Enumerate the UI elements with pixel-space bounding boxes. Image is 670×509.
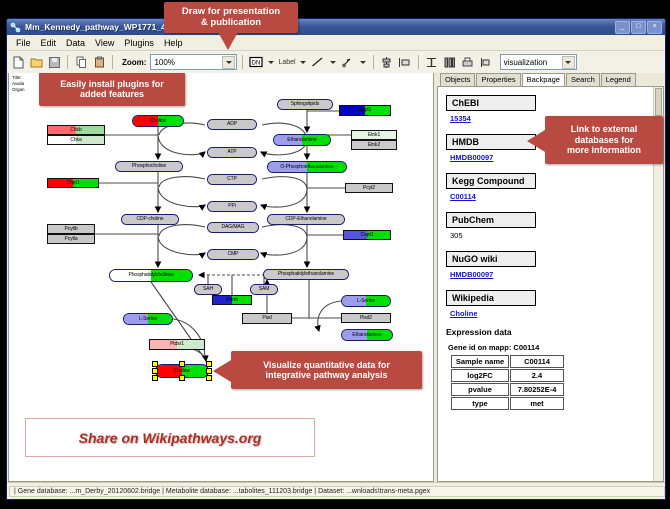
metabolite-node-ethanolamine-2[interactable]: Ethanolamine [341,329,393,341]
copy-icon[interactable] [73,54,89,70]
status-bar: | Gene database: ...m_Derby_20120602.bri… [7,482,665,499]
callout-links: Link to external databases for more info… [545,116,663,164]
table-row: pvalue7.80252E-4 [451,383,564,396]
svg-text:DN: DN [252,60,261,66]
table-row: Sample nameC00114 [451,355,564,368]
metabolite-node-adp[interactable]: ADP [207,119,257,130]
table-cell-key: type [451,397,509,410]
menu-item-view[interactable]: View [90,37,119,49]
pathway-canvas[interactable]: Title: Availa Organ [9,73,433,481]
table-row: log2FC2.4 [451,369,564,382]
metabolite-node-cdp-choline[interactable]: CDP-choline [121,214,179,225]
metabolite-node-phosphocholine[interactable]: Phosphocholine [115,161,183,172]
callout-links-arrow [527,130,545,152]
metabolite-node-choline-top[interactable]: Choline [132,115,184,127]
callout-visualize: Visualize quantitative data for integrat… [231,351,422,389]
group-tool-icon[interactable] [442,54,458,70]
node-label: CDP-choline [137,217,164,222]
callout-share: Share on Wikipathways.org [25,418,315,457]
close-button[interactable]: × [647,21,662,34]
metabolite-node-lserine-left[interactable]: L-Serine [123,313,173,325]
gene-node-chkb[interactable]: Chkb [47,125,105,135]
scrollbar-thumb[interactable] [655,88,662,116]
gene-node-etnk1[interactable]: Etnk1 [351,130,397,140]
screenshot-root: Mm_Kennedy_pathway_WP1771_45176.gpml _ □… [0,0,670,509]
menu-item-file[interactable]: File [11,37,36,49]
selection-handle[interactable] [179,375,185,381]
gene-node-chpt1[interactable]: Chpt1 [47,178,99,188]
metabolite-node-cdp-ethanol[interactable]: CDP-Ethanolamine [267,214,345,225]
node-label: Pcytlb [64,227,77,232]
metabolite-node-ethanolamine-1[interactable]: Ethanolamine [273,134,331,146]
backpage-header: PubChem [446,212,536,228]
gene-node-pcytla[interactable]: Pcytla [47,234,95,244]
gene-node-pcytlb[interactable]: Pcytlb [47,224,95,234]
table-row: typemet [451,397,564,410]
node-label: Ptdsr1 [170,342,184,347]
node-label: Ethanolamine [287,138,316,143]
interaction-tool-icon[interactable] [340,54,356,70]
callout-plugins-line2: added features [80,89,144,99]
callout-links-line2: databases for [575,135,634,145]
node-label: ADP [227,122,237,127]
expression-data-title: Expression data [446,327,663,337]
node-label: Phosphocholine [132,164,166,169]
callout-share-text: Share on Wikipathways.org [79,430,262,446]
node-label: ATP [227,150,236,155]
pathvisio-window: Mm_Kennedy_pathway_WP1771_45176.gpml _ □… [6,18,666,500]
backpage-value: 305 [450,231,663,240]
selection-handle[interactable] [206,361,212,367]
backpage-link[interactable]: Choline [450,309,663,318]
callout-draw: Draw for presentation & publication [164,2,298,33]
metabolite-node-ctp[interactable]: CTP [207,174,257,185]
metabolite-node-ptdcholines[interactable]: Phosphatidylcholines [109,269,193,282]
gene-node-chka[interactable]: Chka [47,135,105,145]
node-label: Ethanolamine [352,333,381,338]
node-label: Pisd2 [360,316,372,321]
metabolite-node-ophosphoetha[interactable]: O-Phosphoethanolamine [267,161,347,173]
interaction-dropdown-icon[interactable] [360,61,366,64]
chevron-down-icon[interactable] [562,56,575,69]
backpage-link[interactable]: C00114 [450,192,663,201]
selection-handle[interactable] [206,375,212,381]
zoom-label: Zoom: [122,58,146,67]
backpage-header: NuGO wiki [446,251,536,267]
open-icon[interactable] [28,54,44,70]
node-label: Sphingolipids [291,102,319,107]
node-label: CTP [227,177,237,182]
selection-handle[interactable] [179,361,185,367]
metabolite-node-cmp[interactable]: CMP [207,249,259,260]
chevron-down-icon[interactable] [222,56,235,69]
metabolite-node-ptdethanol[interactable]: Phosphatidylethanolamine [263,269,349,280]
order-icon[interactable] [478,54,494,70]
paste-icon[interactable] [91,54,107,70]
table-cell-value: 2.4 [510,369,564,382]
backpage-header: ChEBI [446,95,536,111]
callout-visualize-line2: integrative pathway analysis [265,370,387,380]
callout-visualize-arrow [213,360,231,382]
node-label: SAM [259,287,270,292]
node-label: O-Phosphoethanolamine [280,165,333,170]
tab-search[interactable]: Search [566,73,600,86]
toolbar-separator [67,55,68,69]
gene-node-cept1[interactable]: Cept1 [343,230,391,240]
label-tool-label[interactable]: Label [278,59,295,66]
distribute-tool-icon[interactable] [397,54,413,70]
menu-item-edit[interactable]: Edit [36,37,62,49]
toolbar-separator [242,55,243,69]
metabolite-node-sphingolipids[interactable]: Sphingolipids [277,99,333,110]
side-panel-tabs[interactable]: ObjectsPropertiesBackpageSearchLegend [437,73,664,86]
menu-bar[interactable]: File Edit Data View Plugins Help [7,35,665,51]
table-cell-key: Sample name [451,355,509,368]
expression-data-table: Sample nameC00114log2FC2.4pvalue7.80252E… [450,354,565,411]
menu-item-data[interactable]: Data [61,37,90,49]
node-label: Phosphatidylethanolamine [278,272,334,277]
node-label: Etnk1 [368,133,380,138]
status-text: | Gene database: ...m_Derby_20120602.bri… [9,486,665,497]
pathvisio-icon [10,22,21,33]
print-icon[interactable] [460,54,476,70]
maximize-button[interactable]: □ [631,21,646,34]
node-label: Pemt [226,298,237,303]
new-icon[interactable] [10,54,26,70]
node-label: PPi [228,204,235,209]
node-label: Pcytla [64,237,77,242]
node-label: Chpt1 [67,181,80,186]
metabolite-node-atp[interactable]: ATP [207,147,257,158]
callout-plugins: Easily install plugins for added feature… [39,73,185,106]
visualization-combo[interactable]: visualization [500,54,577,70]
window-buttons[interactable]: _ □ × [615,21,662,34]
align-tool-icon[interactable] [379,54,395,70]
tab-properties[interactable]: Properties [476,73,520,86]
toolbar[interactable]: Zoom: 100% DN Label [7,51,665,74]
visualization-value: visualization [504,58,548,67]
node-label: Sgpl1 [359,108,371,113]
node-label: Phosphatidylcholines [129,273,174,278]
selection-handle[interactable] [206,368,212,374]
toolbar-separator [112,55,113,69]
datanode-tool-icon[interactable]: DN [248,54,264,70]
gene-node-pcyt2[interactable]: Pcyt2 [345,183,393,193]
table-cell-key: log2FC [451,369,509,382]
selection-handle[interactable] [152,375,158,381]
zoom-combo[interactable]: 100% [150,54,237,70]
gene-node-sgpl1[interactable]: Sgpl1 [339,105,391,116]
metabolite-node-ppi[interactable]: PPi [207,201,257,212]
gene-node-pisd[interactable]: Pisd [242,313,292,324]
callout-plugins-line1: Easily install plugins for [60,79,164,89]
tab-legend[interactable]: Legend [601,73,636,86]
save-icon[interactable] [46,54,62,70]
node-label: Pcyt2 [363,186,375,191]
callout-links-line3: more information [567,145,641,155]
backpage-link[interactable]: HMDB00097 [450,270,663,279]
gene-node-pisd2[interactable]: Pisd2 [341,313,391,323]
node-label: DAG/MAG [222,225,245,230]
table-cell-key: pvalue [451,383,509,396]
callout-draw-line1: Draw for presentation [182,7,280,18]
minimize-button[interactable]: _ [615,21,630,34]
gene-id-line: Gene id on mapp: C00114 [448,343,663,352]
node-label: Chkb [70,128,81,133]
menu-item-plugins[interactable]: Plugins [119,37,159,49]
menu-item-help[interactable]: Help [159,37,188,49]
zoom-value: 100% [154,58,174,67]
node-label: Pisd [262,316,271,321]
toolbar-separator [373,55,374,69]
callout-draw-line2: & publication [201,18,261,29]
table-cell-value: 7.80252E-4 [510,383,564,396]
window-titlebar: Mm_Kennedy_pathway_WP1771_45176.gpml _ □… [7,19,665,35]
metabolite-node-sam[interactable]: SAM [250,284,278,295]
backpage-header: Kegg Compound [446,173,536,189]
toolbar-separator [418,55,419,69]
node-label: SAH [203,287,213,292]
selection-handle[interactable] [152,361,158,367]
table-cell-value: C00114 [510,355,564,368]
backpage-header: Wikipedia [446,290,536,306]
label-dropdown-icon[interactable] [300,61,306,64]
node-label: Cept1 [361,233,374,238]
line-dropdown-icon[interactable] [330,61,336,64]
callout-visualize-line1: Visualize quantitative data for [263,360,390,370]
table-cell-value: met [510,397,564,410]
node-label: Choline [150,119,166,124]
callout-draw-arrow [218,32,238,50]
callout-plugins-arrow [75,73,93,75]
node-label: CMP [228,252,239,257]
node-label: Etnk2 [368,143,380,148]
datanode-dropdown-icon[interactable] [268,61,274,64]
node-label: CDP-Ethanolamine [285,217,326,222]
tab-backpage[interactable]: Backpage [522,73,565,87]
node-label: Choline [174,369,190,374]
gene-node-pemt[interactable]: Pemt [212,295,252,305]
node-label: Chka [70,138,81,143]
line-tool-icon[interactable] [310,54,326,70]
tab-objects[interactable]: Objects [440,73,475,86]
gene-node-ptdsr1[interactable]: Ptdsr1 [149,339,205,350]
pathway-canvas-panel[interactable]: Title: Availa Organ [8,73,434,482]
backpage-header: HMDB [446,134,536,150]
metabolite-node-sah[interactable]: SAH [194,284,222,295]
selection-handle[interactable] [152,368,158,374]
node-label: L-Serine [357,299,375,304]
stack-tool-icon[interactable] [424,54,440,70]
metabolite-node-dagmag[interactable]: DAG/MAG [207,222,259,233]
callout-links-line1: Link to external [571,124,638,134]
gene-node-etnk2[interactable]: Etnk2 [351,140,397,150]
node-label: L-Serine [139,317,157,322]
metabolite-node-lserine-right[interactable]: L-Serine [341,295,391,307]
